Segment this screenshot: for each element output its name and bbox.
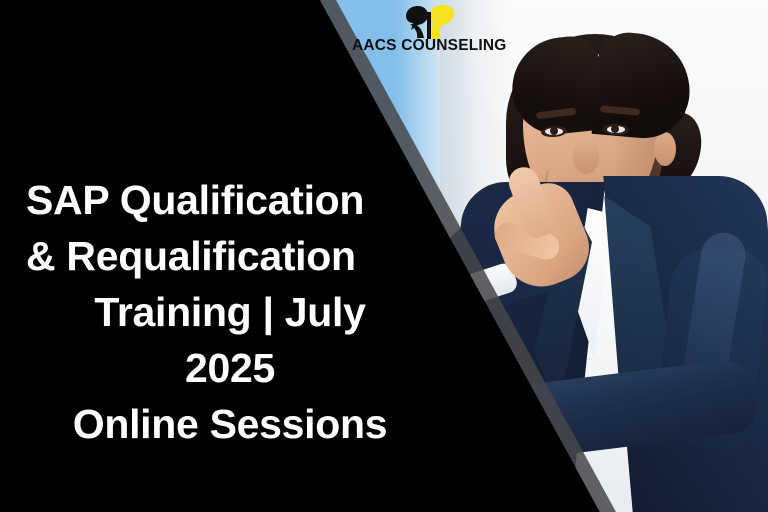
brand-logo[interactable]: AACS COUNSELING [352,4,502,60]
nose [573,140,599,174]
pupil-left [550,127,558,135]
headline-line-1: SAP Qualification [12,172,448,228]
page-title: SAP Qualification & Requalification Trai… [12,172,448,452]
headline-line-3: Training | July [12,284,448,340]
ear [654,132,676,166]
headline-line-4: 2025 [12,340,448,396]
promo-banner: AACS COUNSELING SAP Qualification & Requ… [0,0,768,512]
brand-name: AACS COUNSELING [352,37,502,55]
pupil-right [611,125,619,133]
aacs-logo-mark-icon [398,4,460,40]
headline-line-5: Online Sessions [12,396,448,452]
headline-line-2: & Requalification [12,228,448,284]
